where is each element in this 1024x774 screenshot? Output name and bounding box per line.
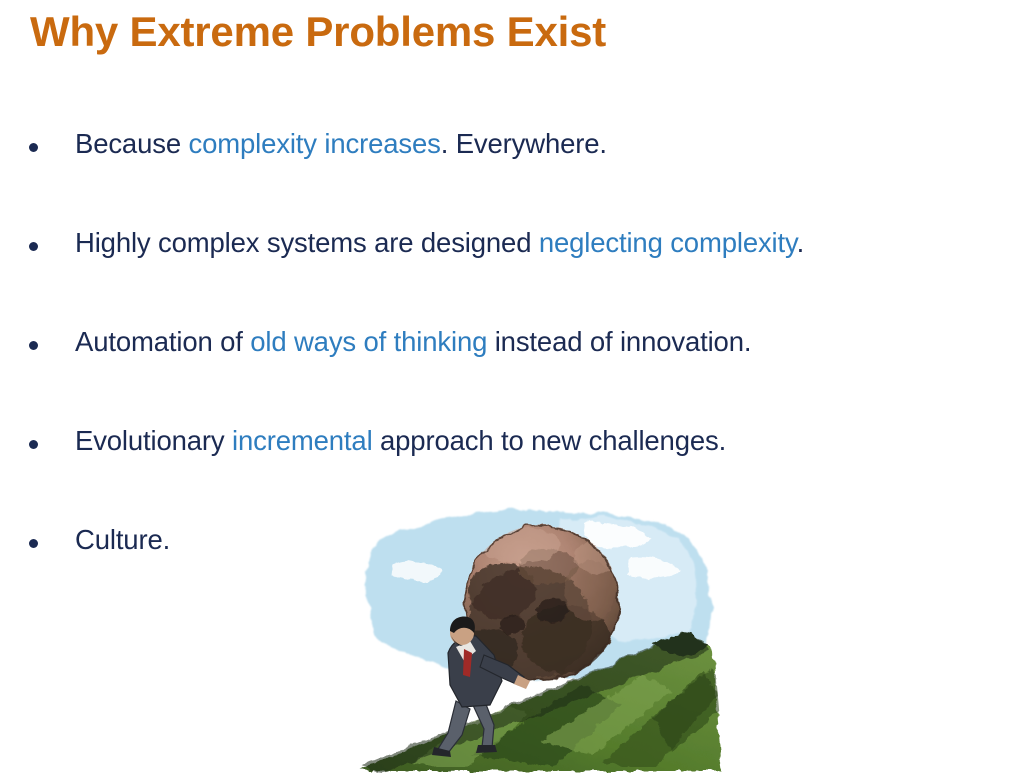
list-item-segment: approach to new challenges. xyxy=(373,425,727,456)
list-item-segment: . Everywhere. xyxy=(441,128,607,159)
list-item-highlight: incremental xyxy=(232,425,373,456)
bullet-dot-icon xyxy=(29,539,38,548)
list-item: Highly complex systems are designed negl… xyxy=(0,226,1024,325)
sisyphus-boulder-illustration xyxy=(352,505,734,774)
list-item-highlight: old ways of thinking xyxy=(250,326,487,357)
bullet-dot-icon xyxy=(29,440,38,449)
list-item-segment: instead of innovation. xyxy=(487,326,751,357)
bullet-dot-icon xyxy=(29,242,38,251)
list-item-text: Automation of old ways of thinking inste… xyxy=(75,325,1024,359)
bullet-dot-icon xyxy=(29,341,38,350)
list-item-text: Highly complex systems are designed negl… xyxy=(75,226,1024,260)
slide-canvas: Why Extreme Problems Exist Because compl… xyxy=(0,0,1024,774)
list-item-segment: Evolutionary xyxy=(75,425,232,456)
list-item-segment: Automation of xyxy=(75,326,250,357)
list-item-text: Evolutionary incremental approach to new… xyxy=(75,424,1024,458)
list-item-segment: . xyxy=(797,227,805,258)
list-item-text: Because complexity increases. Everywhere… xyxy=(75,127,1024,161)
list-item-segment: Culture. xyxy=(75,524,170,555)
bullet-dot-icon xyxy=(29,143,38,152)
list-item-segment: Because xyxy=(75,128,188,159)
list-item: Automation of old ways of thinking inste… xyxy=(0,325,1024,424)
list-item-segment: Highly complex systems are designed xyxy=(75,227,539,258)
illustration-svg xyxy=(352,505,734,774)
list-item: Because complexity increases. Everywhere… xyxy=(0,127,1024,226)
list-item-highlight: complexity increases xyxy=(188,128,440,159)
page-title: Why Extreme Problems Exist xyxy=(30,8,606,55)
list-item-highlight: neglecting complexity xyxy=(539,227,797,258)
